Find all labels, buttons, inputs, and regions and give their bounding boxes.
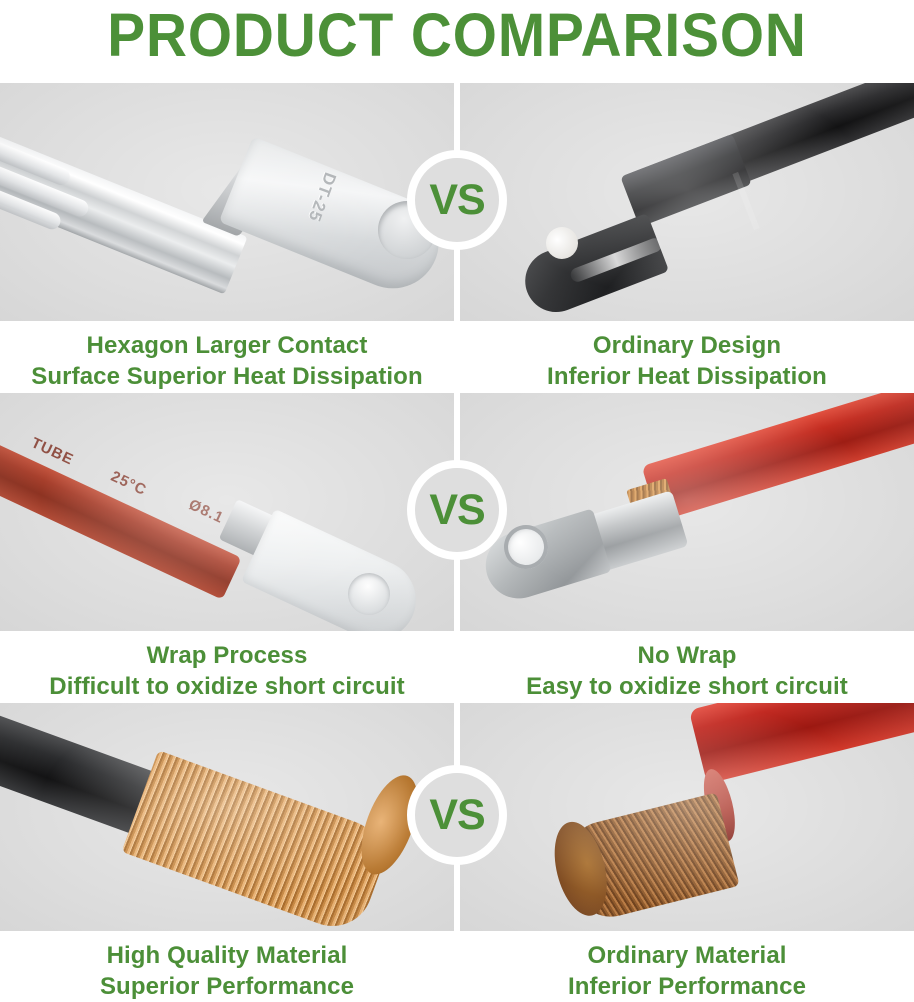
lug-crimp-barrel — [0, 113, 248, 294]
vs-label: VS — [429, 794, 484, 837]
caption-line-2: Inferior Heat Dissipation — [460, 361, 914, 392]
product-image-panel-left — [0, 703, 454, 931]
red-cable-jacket — [689, 703, 914, 784]
caption-line-1: Wrap Process — [0, 640, 454, 671]
row-captions: Hexagon Larger Contact Surface Superior … — [0, 321, 914, 392]
product-comparison-infographic: PRODUCT COMPARISON DT-25 — [0, 0, 914, 1000]
caption-right: No Wrap Easy to oxidize short circuit — [460, 631, 914, 702]
product-image-panel-left: TUBE 25°C Ø8.1 — [0, 393, 454, 631]
caption-line-2: Inferior Performance — [460, 971, 914, 1002]
vs-badge: VS — [407, 460, 507, 560]
caption-line-2: Superior Performance — [0, 971, 454, 1002]
caption-line-2: Easy to oxidize short circuit — [460, 671, 914, 702]
row-captions: Wrap Process Difficult to oxidize short … — [0, 631, 914, 702]
product-image-panel-right — [460, 703, 914, 931]
caption-right: Ordinary Material Inferior Performance — [460, 931, 914, 1002]
caption-line-1: Hexagon Larger Contact — [0, 330, 454, 361]
caption-line-1: Ordinary Design — [460, 330, 914, 361]
vs-label: VS — [429, 489, 484, 532]
caption-line-1: No Wrap — [460, 640, 914, 671]
row-image-panels: VS — [0, 703, 914, 931]
caption-left: High Quality Material Superior Performan… — [0, 931, 454, 1002]
product-image-panel-right — [460, 393, 914, 631]
vs-label: VS — [429, 179, 484, 222]
black-heatshrink-sleeve — [620, 134, 751, 227]
page-title: PRODUCT COMPARISON — [32, 0, 882, 74]
caption-line-1: Ordinary Material — [460, 940, 914, 971]
red-cable-jacket — [642, 393, 914, 522]
caption-left: Hexagon Larger Contact Surface Superior … — [0, 321, 454, 392]
wrapped-ring-terminal-pad — [241, 509, 429, 631]
caption-line-2: Surface Superior Heat Dissipation — [0, 361, 454, 392]
comparison-row-wrap-process: TUBE 25°C Ø8.1 VS Wrap — [0, 393, 914, 703]
tube-print-label: Ø8.1 — [186, 496, 226, 527]
caption-right: Ordinary Design Inferior Heat Dissipatio… — [460, 321, 914, 392]
row-image-panels: DT-25 VS — [0, 83, 914, 321]
comparison-row-material-quality: VS High Quality Material Superior Perfor… — [0, 703, 914, 1000]
bright-copper-strands — [122, 750, 394, 931]
vs-badge: VS — [407, 765, 507, 865]
product-image-panel-right — [460, 83, 914, 321]
vs-badge: VS — [407, 150, 507, 250]
product-image-panel-left: DT-25 — [0, 83, 454, 321]
caption-line-2: Difficult to oxidize short circuit — [0, 671, 454, 702]
row-image-panels: TUBE 25°C Ø8.1 VS — [0, 393, 914, 631]
caption-line-1: High Quality Material — [0, 940, 454, 971]
caption-left: Wrap Process Difficult to oxidize short … — [0, 631, 454, 702]
row-captions: High Quality Material Superior Performan… — [0, 931, 914, 1002]
tube-print-label: 25°C — [108, 468, 149, 499]
comparison-row-heat-dissipation: DT-25 VS Hexagon Larger Contact Surface … — [0, 83, 914, 393]
